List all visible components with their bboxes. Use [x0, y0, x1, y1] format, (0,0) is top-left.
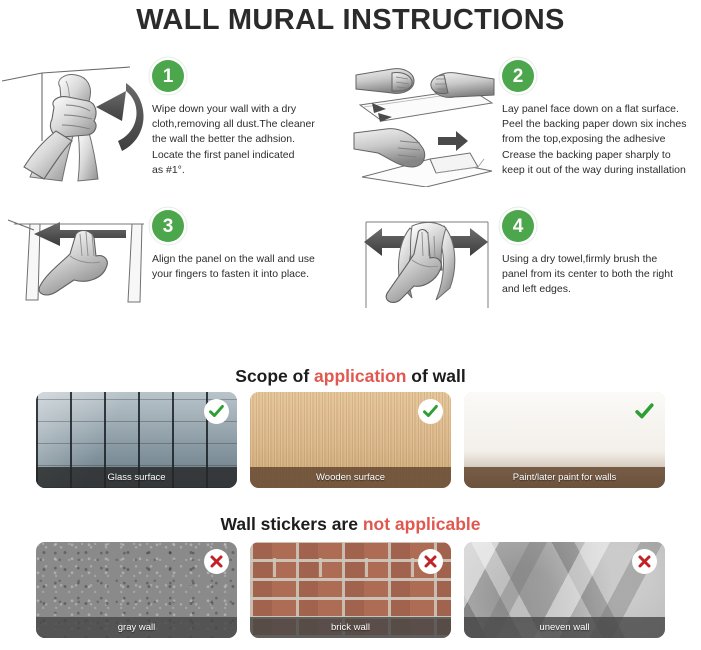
step-3: 3 Align the panel on the wall and use yo…	[0, 200, 345, 330]
applicable-heading-accent: application	[314, 366, 406, 386]
applicable-heading-before: Scope of	[235, 366, 314, 386]
glass-caption: Glass surface	[36, 467, 237, 488]
step-3-body: 3 Align the panel on the wall and use yo…	[152, 210, 337, 282]
step-4-text: Using a dry towel,firmly brush the panel…	[502, 252, 692, 298]
surface-card-uneven-wall[interactable]: uneven wall	[464, 542, 665, 638]
not-applicable-heading: Wall stickers are not applicable	[0, 514, 701, 535]
check-icon	[204, 399, 229, 424]
cross-icon	[204, 549, 229, 574]
applicable-heading: Scope of application of wall	[0, 366, 701, 387]
check-icon	[418, 399, 443, 424]
step-1: 1 Wipe down your wall with a dry cloth,r…	[0, 55, 345, 190]
cross-icon	[632, 549, 657, 574]
step-1-body: 1 Wipe down your wall with a dry cloth,r…	[152, 60, 332, 178]
wood-caption: Wooden surface	[250, 467, 451, 488]
step-2-badge: 2	[502, 60, 534, 92]
step-2-body: 2 Lay panel face down on a flat surface.…	[502, 60, 701, 178]
step-1-text: Wipe down your wall with a dry cloth,rem…	[152, 102, 332, 178]
applicable-heading-after: of wall	[406, 366, 465, 386]
steps-section: 1 Wipe down your wall with a dry cloth,r…	[0, 55, 701, 340]
brick-wall-caption: brick wall	[250, 617, 451, 638]
step-3-badge: 3	[152, 210, 184, 242]
not-applicable-heading-accent: not applicable	[363, 514, 481, 534]
gray-wall-caption: gray wall	[36, 617, 237, 638]
surface-card-gray-wall[interactable]: gray wall	[36, 542, 237, 638]
step-2-text: Lay panel face down on a flat surface. P…	[502, 102, 701, 178]
uneven-wall-caption: uneven wall	[464, 617, 665, 638]
step-4-illustration	[352, 200, 500, 312]
step-4: 4 Using a dry towel,firmly brush the pan…	[352, 200, 701, 330]
surface-card-glass[interactable]: Glass surface	[36, 392, 237, 488]
check-icon	[632, 399, 657, 424]
applicable-card-row: Glass surface Wooden surface Paint/later…	[36, 392, 665, 488]
surface-card-paint[interactable]: Paint/later paint for walls	[464, 392, 665, 488]
step-3-illustration	[0, 200, 150, 310]
step-4-body: 4 Using a dry towel,firmly brush the pan…	[502, 210, 692, 298]
surface-card-wood[interactable]: Wooden surface	[250, 392, 451, 488]
page-title: WALL MURAL INSTRUCTIONS	[0, 4, 701, 37]
not-applicable-heading-before: Wall stickers are	[220, 514, 362, 534]
surface-card-brick-wall[interactable]: brick wall	[250, 542, 451, 638]
paint-caption: Paint/later paint for walls	[464, 467, 665, 488]
step-1-badge: 1	[152, 60, 184, 92]
step-1-illustration	[0, 55, 150, 185]
step-4-badge: 4	[502, 210, 534, 242]
step-2-illustration	[352, 55, 497, 187]
step-3-text: Align the panel on the wall and use your…	[152, 252, 337, 282]
not-applicable-card-row: gray wall brick wall uneven wall	[36, 542, 665, 638]
step-2: 2 Lay panel face down on a flat surface.…	[352, 55, 701, 190]
